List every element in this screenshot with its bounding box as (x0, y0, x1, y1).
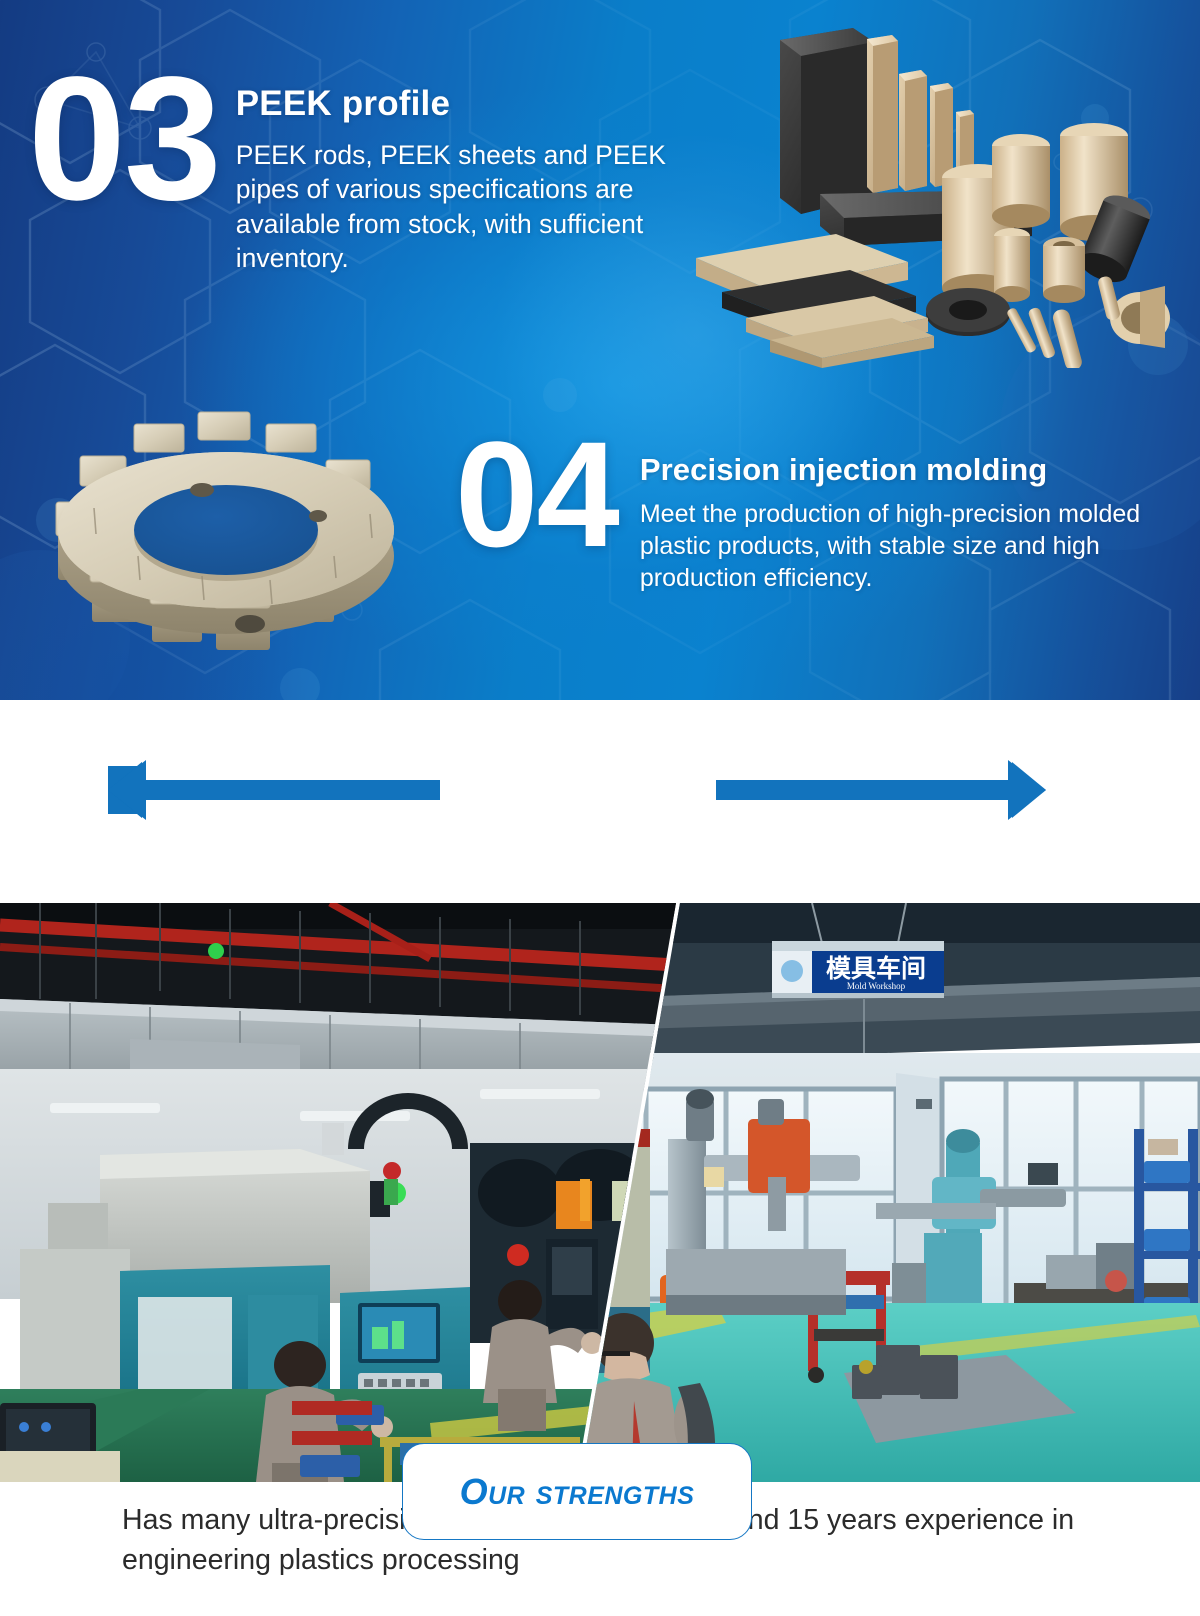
hero-block-04: 04 Precision injection molding Meet the … (455, 428, 1175, 594)
promo-page: 03 PEEK profile PEEK rods, PEEK sheets a… (0, 0, 1200, 1616)
workshop-photo-collage: 模具车间 Mold Workshop (0, 903, 1200, 1482)
cnc-workshop-photo (0, 903, 676, 1482)
mold-workshop-photo: 模具车间 Mold Workshop (576, 903, 1200, 1482)
block-body: Meet the production of high-precision mo… (640, 498, 1160, 594)
block-body: PEEK rods, PEEK sheets and PEEK pipes of… (236, 138, 668, 276)
our-strengths-label: Our strengths (460, 1471, 695, 1513)
our-strengths-banner: Our strengths (0, 700, 1200, 900)
block-title: PEEK profile (236, 84, 668, 124)
peek-profile-product-image (678, 18, 1190, 368)
svg-text:Mold Workshop: Mold Workshop (847, 981, 906, 991)
our-strengths-label-box: Our strengths (402, 1443, 752, 1540)
block-number: 03 (28, 64, 220, 215)
peek-gear-ring-image (30, 398, 430, 668)
block-title: Precision injection molding (640, 452, 1160, 488)
hero-section: 03 PEEK profile PEEK rods, PEEK sheets a… (0, 0, 1200, 700)
hero-block-03: 03 PEEK profile PEEK rods, PEEK sheets a… (28, 70, 678, 276)
double-arrow-icon (0, 700, 1200, 900)
block-number: 04 (455, 430, 618, 559)
svg-text:模具车间: 模具车间 (826, 954, 926, 983)
